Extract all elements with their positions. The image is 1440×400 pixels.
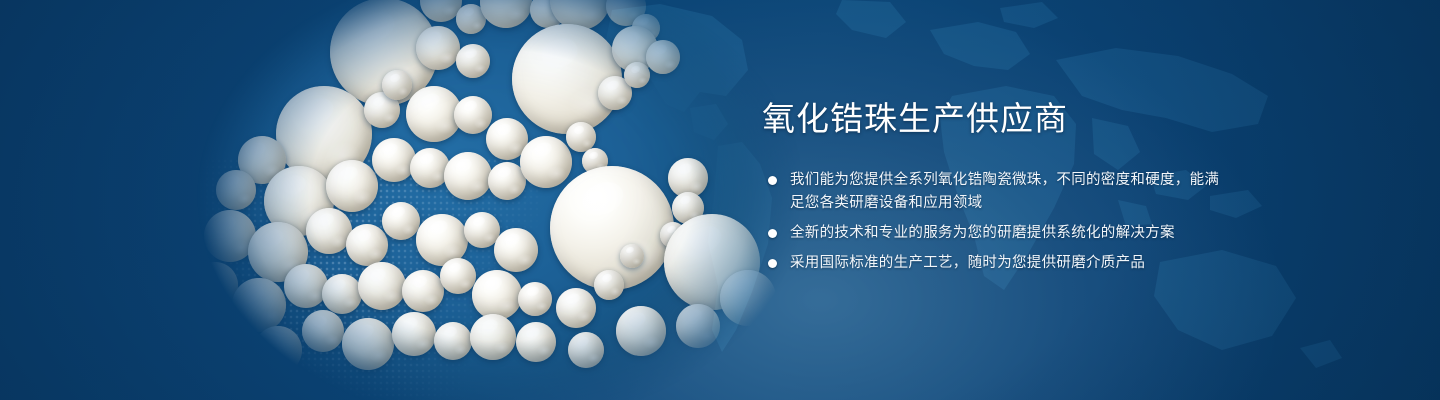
list-item-label: 全新的技术和专业的服务为您的研磨提供系统化的解决方案: [790, 225, 1175, 241]
list-item: 采用国际标准的生产工艺，随时为您提供研磨介质产品: [762, 252, 1232, 275]
zirconia-beads-photo: [120, 0, 800, 400]
bullet-dot-icon: [768, 229, 777, 238]
bullet-dot-icon: [768, 176, 777, 185]
list-item-label: 采用国际标准的生产工艺，随时为您提供研磨介质产品: [790, 255, 1145, 271]
bullet-dot-icon: [768, 259, 777, 268]
page-title: 氧化锆珠生产供应商: [762, 98, 1232, 139]
list-item: 我们能为您提供全系列氧化锆陶瓷微珠，不同的密度和硬度，能满足您各类研磨设备和应用…: [762, 169, 1232, 215]
bead-cluster: [120, 0, 800, 400]
list-item-label: 我们能为您提供全系列氧化锆陶瓷微珠，不同的密度和硬度，能满足您各类研磨设备和应用…: [790, 172, 1219, 211]
feature-list: 我们能为您提供全系列氧化锆陶瓷微珠，不同的密度和硬度，能满足您各类研磨设备和应用…: [762, 169, 1232, 275]
hero-banner: 氧化锆珠生产供应商 我们能为您提供全系列氧化锆陶瓷微珠，不同的密度和硬度，能满足…: [0, 0, 1440, 400]
list-item: 全新的技术和专业的服务为您的研磨提供系统化的解决方案: [762, 222, 1232, 245]
banner-copy: 氧化锆珠生产供应商 我们能为您提供全系列氧化锆陶瓷微珠，不同的密度和硬度，能满足…: [762, 98, 1232, 275]
